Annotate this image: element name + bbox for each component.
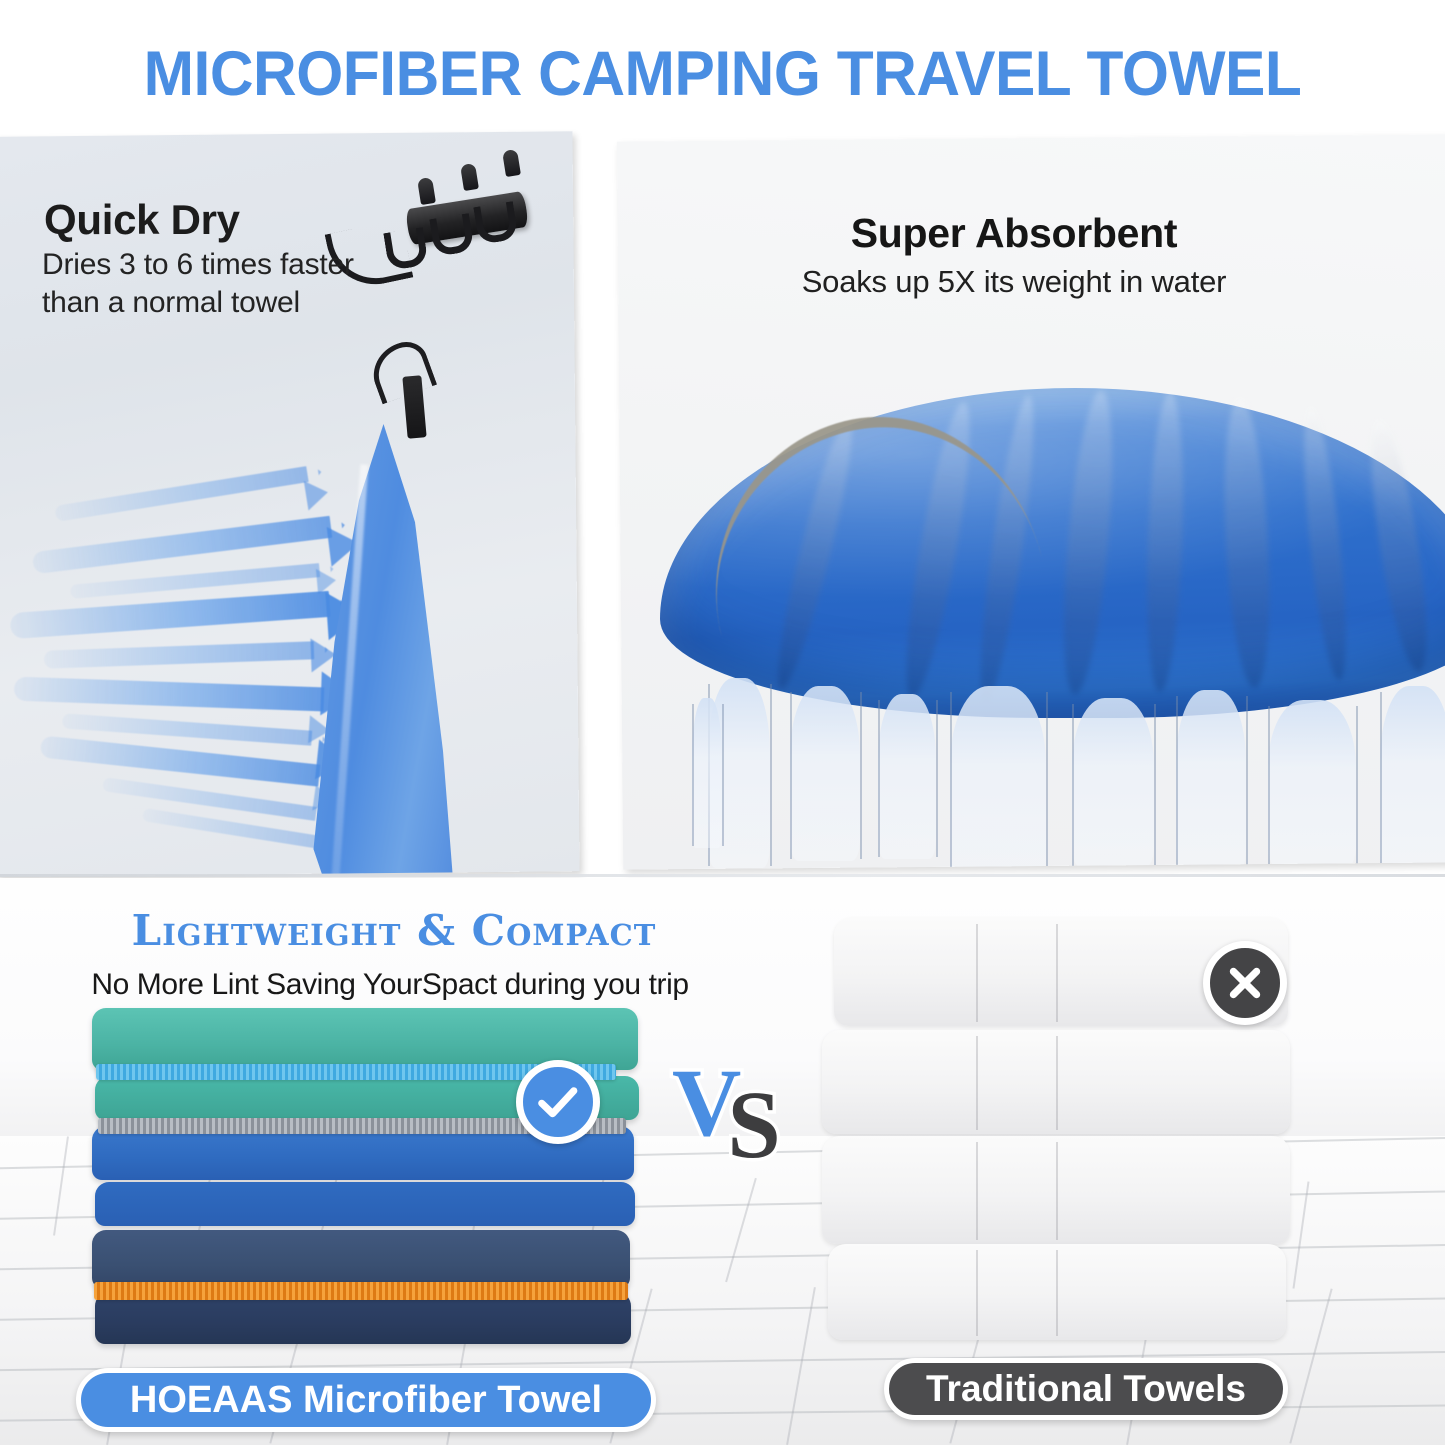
- water-drip-edge: [860, 692, 862, 859]
- quick-dry-heading: Quick Dry: [44, 196, 240, 244]
- water-drip-edge: [692, 704, 694, 846]
- label-hoeaas-text: HOEAAS Microfiber Towel: [130, 1379, 602, 1422]
- airflow-arrow: [9, 591, 330, 639]
- cross-mark-badge: [1203, 941, 1287, 1025]
- panel-quick-dry: Quick Dry Dries 3 to 6 times faster than…: [0, 131, 580, 877]
- traditional-towel-seam: [976, 924, 978, 1022]
- towel-hanging-loop: [365, 336, 437, 405]
- floor-plank-joint: [1289, 1289, 1332, 1444]
- check-icon: [533, 1077, 583, 1127]
- traditional-towel-seam: [976, 1142, 978, 1240]
- label-hoeaas-microfiber-towel: HOEAAS Microfiber Towel: [76, 1368, 656, 1432]
- hook-knob: [502, 149, 521, 177]
- close-icon: [1221, 959, 1269, 1007]
- water-drip-edge: [1268, 706, 1270, 866]
- water-drip-edge: [722, 704, 724, 846]
- water-drip-edge: [878, 700, 880, 857]
- trim-orange: [94, 1282, 628, 1300]
- lightweight-subtext: No More Lint Saving YourSpact during you…: [40, 968, 740, 1002]
- traditional-towel-seam: [1056, 1250, 1058, 1336]
- panel-super-absorbent: Super Absorbent Soaks up 5X its weight i…: [617, 134, 1445, 869]
- water-drip-edge: [1246, 696, 1248, 870]
- section-divider: [0, 874, 1445, 877]
- lightweight-heading: Lightweight & Compact: [96, 906, 692, 955]
- airflow-arrow-head: [304, 477, 330, 510]
- water-drip-edge: [1380, 692, 1382, 870]
- airflow-arrow: [102, 777, 317, 821]
- water-drip: [1176, 690, 1246, 870]
- super-absorbent-subtext: Soaks up 5X its weight in water: [620, 264, 1445, 300]
- traditional-towel-seam: [976, 1250, 978, 1336]
- water-drip-edge: [1046, 692, 1048, 870]
- traditional-towel-seam: [1056, 1142, 1058, 1240]
- floor-plank-joint: [53, 1136, 68, 1235]
- water-drip-edge: [936, 700, 938, 857]
- water-drip-edge: [950, 692, 952, 870]
- water-drip: [692, 698, 722, 848]
- water-drip: [1072, 698, 1154, 868]
- versus-badge: VS: [672, 1055, 775, 1151]
- traditional-towel-seam: [976, 1036, 978, 1130]
- floor-plank-joint: [786, 1287, 815, 1445]
- airflow-arrow: [14, 677, 325, 712]
- towel-royal-bottom: [95, 1182, 635, 1226]
- water-drip: [878, 694, 936, 859]
- airflow-arrow: [54, 466, 308, 522]
- quick-dry-subtext-line-2: than a normal towel: [42, 284, 354, 322]
- towel-navy: [92, 1230, 630, 1288]
- hook-knob: [417, 177, 436, 205]
- traditional-towel-seam: [1056, 1036, 1058, 1130]
- traditional-towel-seam: [1056, 924, 1058, 1022]
- water-drip-edge: [770, 684, 772, 866]
- panel-super-absorbent-inner: Super Absorbent Soaks up 5X its weight i…: [620, 138, 1445, 866]
- airflow-arrow: [44, 641, 314, 668]
- quick-dry-subtext: Dries 3 to 6 times faster than a normal …: [42, 246, 354, 323]
- water-drip-edge: [1356, 706, 1358, 866]
- super-absorbent-heading: Super Absorbent: [620, 210, 1445, 257]
- label-traditional-text: Traditional Towels: [926, 1368, 1246, 1410]
- water-drip-edge: [1176, 696, 1178, 870]
- versus-v-letter: V: [672, 1049, 731, 1156]
- hook-knob: [460, 163, 479, 191]
- versus-s-letter: S: [727, 1077, 770, 1173]
- hook-arm: [473, 201, 518, 245]
- water-drip-edge: [1072, 704, 1074, 866]
- check-mark-badge: [516, 1060, 600, 1144]
- floor-plank-joint: [1292, 1181, 1309, 1288]
- water-drip: [1268, 700, 1356, 868]
- floor-plank-joint: [725, 1178, 756, 1282]
- quick-dry-subtext-line-1: Dries 3 to 6 times faster: [42, 246, 354, 284]
- hook-arm: [429, 213, 474, 257]
- label-traditional-towels: Traditional Towels: [884, 1358, 1288, 1420]
- water-drip: [790, 686, 860, 861]
- water-drip: [950, 686, 1046, 870]
- panel-quick-dry-inner: Quick Dry Dries 3 to 6 times faster than…: [0, 134, 576, 874]
- water-drip-edge: [1154, 704, 1156, 866]
- page-title: MICROFIBER CAMPING TRAVEL TOWEL: [29, 38, 1416, 110]
- water-drip-edge: [790, 692, 792, 859]
- water-drip: [1380, 686, 1445, 870]
